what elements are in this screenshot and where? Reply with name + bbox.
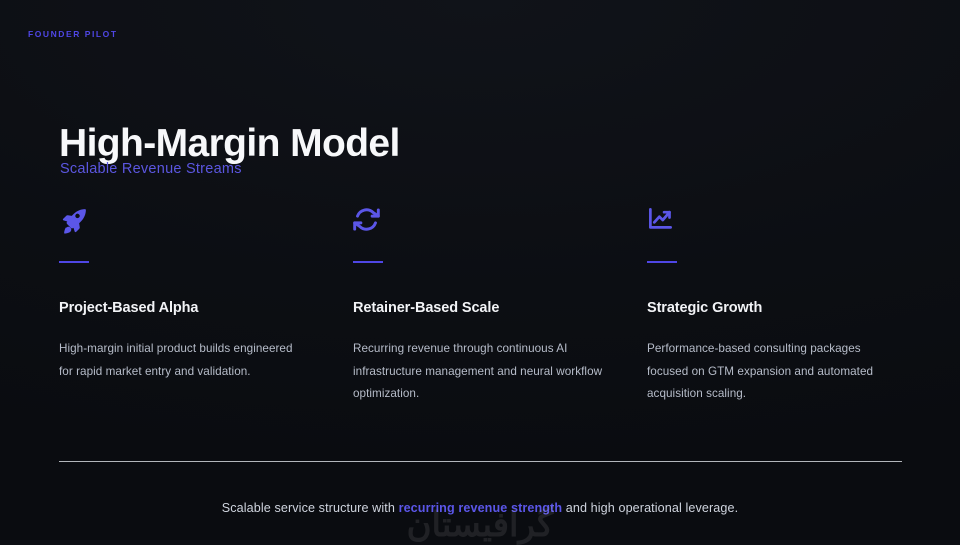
- column-accent-rule: [647, 261, 677, 263]
- rocket-icon: [59, 206, 309, 244]
- footer-summary: Scalable service structure with recurrin…: [0, 501, 960, 515]
- slide-root: FOUNDER PILOT High-Margin Model Scalable…: [0, 0, 960, 540]
- feature-title-1: Project-Based Alpha: [59, 300, 309, 316]
- feature-column-2: Retainer-Based Scale Recurring revenue t…: [353, 206, 603, 406]
- feature-body-1: High-margin initial product builds engin…: [59, 338, 309, 383]
- brand-eyebrow: FOUNDER PILOT: [28, 29, 118, 39]
- page-subtitle: Scalable Revenue Streams: [60, 161, 242, 177]
- feature-column-1: Project-Based Alpha High-margin initial …: [59, 206, 309, 406]
- footer-trail-text: and high operational leverage.: [562, 501, 738, 515]
- footer-divider: [59, 461, 902, 462]
- column-accent-rule: [353, 261, 383, 263]
- feature-title-3: Strategic Growth: [647, 300, 897, 316]
- feature-column-3: Strategic Growth Performance-based consu…: [647, 206, 897, 406]
- feature-body-3: Performance-based consulting packages fo…: [647, 338, 897, 406]
- column-accent-rule: [59, 261, 89, 263]
- page-title: High-Margin Model: [59, 123, 400, 166]
- footer-lead-text: Scalable service structure with: [222, 501, 399, 515]
- feature-title-2: Retainer-Based Scale: [353, 300, 603, 316]
- line-chart-up-icon: [647, 206, 897, 244]
- footer-highlight-text: recurring revenue strength: [399, 501, 563, 515]
- feature-body-2: Recurring revenue through continuous AI …: [353, 338, 603, 406]
- feature-columns: Project-Based Alpha High-margin initial …: [59, 206, 905, 406]
- refresh-cycle-icon: [353, 206, 603, 244]
